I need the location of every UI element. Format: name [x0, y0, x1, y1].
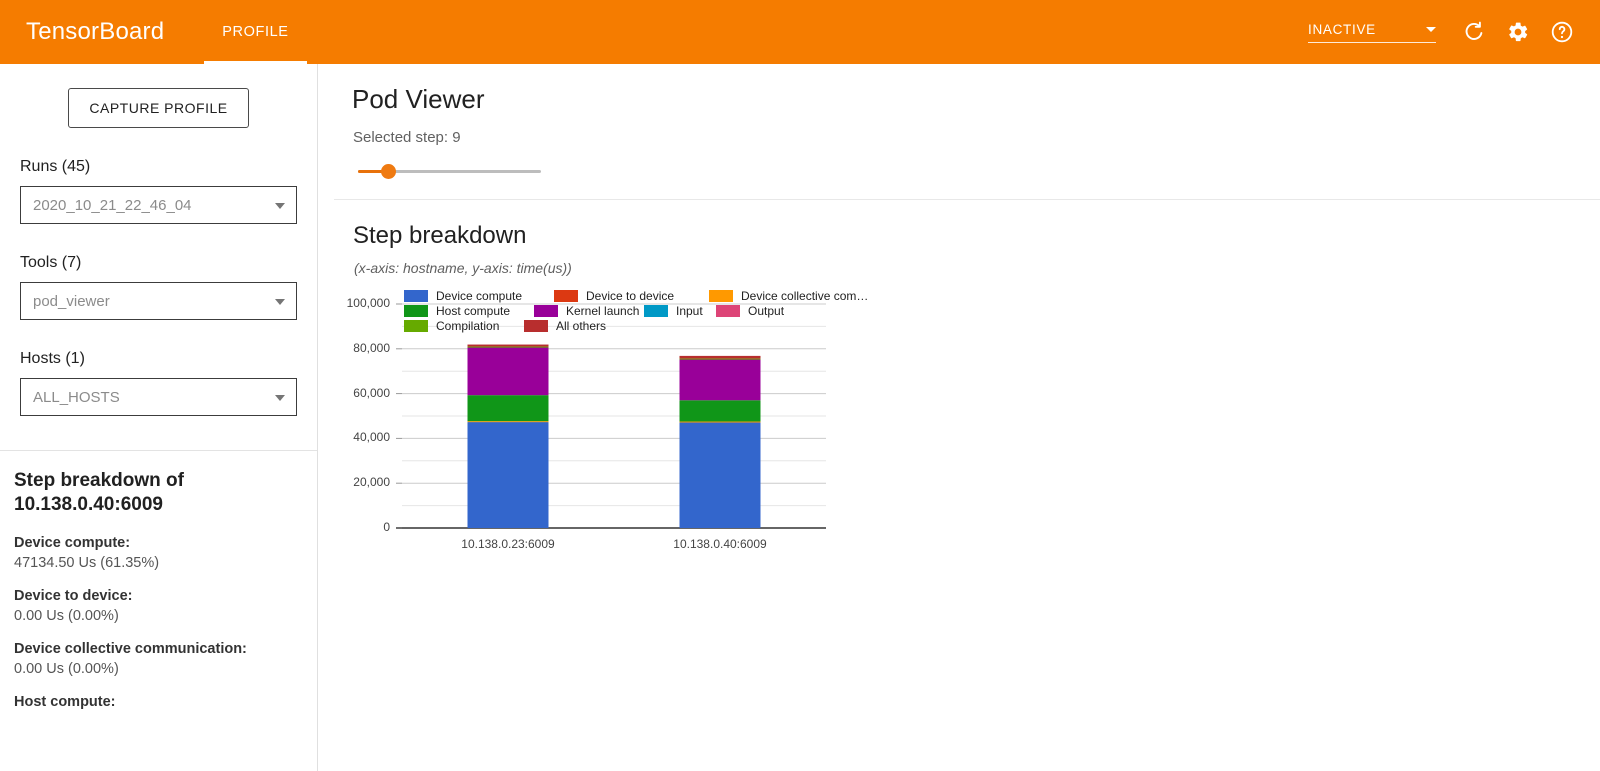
legend-swatch	[554, 290, 578, 302]
left-sidebar: CAPTURE PROFILE Runs (45) 2020_10_21_22_…	[0, 64, 318, 771]
selected-step-label: Selected step: 9	[334, 115, 1600, 146]
bar-segment	[468, 347, 549, 348]
legend-label: Compilation	[436, 319, 499, 333]
y-axis-tick-label: 60,000	[334, 386, 390, 400]
step-breakdown-chart: Device compute Device to device Device c…	[334, 288, 1234, 556]
legend-label: Input	[676, 304, 703, 318]
chart-title: Step breakdown	[334, 200, 1600, 250]
help-button[interactable]	[1542, 12, 1582, 52]
tools-field: Tools (7) pod_viewer	[0, 254, 317, 320]
reload-icon	[1462, 20, 1486, 44]
bar-segment	[680, 359, 761, 360]
breakdown-item: Device to device: 0.00 Us (0.00%)	[0, 588, 317, 624]
y-axis-tick-label: 40,000	[334, 430, 390, 444]
app-brand: TensorBoard	[26, 18, 164, 46]
chart-subtitle: (x-axis: hostname, y-axis: time(us))	[334, 250, 1600, 276]
legend-row: Host compute Kernel launch Input Output	[404, 303, 924, 318]
bar-segment	[680, 400, 761, 421]
runs-select[interactable]: 2020_10_21_22_46_04	[20, 186, 297, 224]
runs-label: Runs (45)	[20, 158, 297, 176]
legend-item[interactable]: Device collective com…	[709, 289, 868, 303]
legend-item[interactable]: Device compute	[404, 289, 554, 303]
legend-item[interactable]: Input	[644, 304, 716, 318]
reload-button[interactable]	[1454, 12, 1494, 52]
hosts-label: Hosts (1)	[20, 350, 297, 368]
capture-profile-row: CAPTURE PROFILE	[0, 64, 317, 128]
bar-segment	[468, 421, 549, 422]
runs-select-value: 2020_10_21_22_46_04	[33, 197, 192, 214]
header-actions: INACTIVE	[1308, 12, 1582, 52]
breakdown-item-key: Device compute:	[14, 535, 297, 551]
capture-profile-button[interactable]: CAPTURE PROFILE	[68, 88, 248, 128]
legend-swatch	[404, 305, 428, 317]
step-slider[interactable]	[358, 164, 541, 178]
legend-item[interactable]: Output	[716, 304, 784, 318]
legend-row: Compilation All others	[404, 318, 924, 333]
y-axis-tick-label: 0	[334, 520, 390, 534]
legend-item[interactable]: Compilation	[404, 319, 524, 333]
legend-label: Host compute	[436, 304, 510, 318]
x-axis-tick-label: 10.138.0.23:6009	[428, 537, 588, 551]
bar-segment	[468, 345, 549, 347]
slider-thumb[interactable]	[381, 164, 396, 179]
legend-label: Kernel launch	[566, 304, 639, 318]
breakdown-item: Device collective communication: 0.00 Us…	[0, 641, 317, 677]
tools-label: Tools (7)	[20, 254, 297, 272]
hosts-select[interactable]: ALL_HOSTS	[20, 378, 297, 416]
breakdown-item-key: Device to device:	[14, 588, 297, 604]
runs-field: Runs (45) 2020_10_21_22_46_04	[0, 158, 317, 224]
legend-item[interactable]: Device to device	[554, 289, 709, 303]
header-tabs: PROFILE	[204, 0, 306, 64]
breakdown-item-value: 0.00 Us (0.00%)	[14, 661, 297, 677]
legend-item[interactable]: All others	[524, 319, 606, 333]
legend-swatch	[404, 320, 428, 332]
breakdown-item-key: Host compute:	[14, 694, 297, 710]
y-axis-tick-label: 80,000	[334, 341, 390, 355]
y-axis-tick-label: 100,000	[334, 296, 390, 310]
chart-legend: Device compute Device to device Device c…	[404, 288, 924, 333]
legend-swatch	[716, 305, 740, 317]
tab-profile[interactable]: PROFILE	[204, 0, 306, 64]
breakdown-item: Device compute: 47134.50 Us (61.35%)	[0, 535, 317, 571]
main-panel: Pod Viewer Selected step: 9 Step breakdo…	[334, 64, 1600, 771]
breakdown-item-key: Device collective communication:	[14, 641, 297, 657]
settings-button[interactable]	[1498, 12, 1538, 52]
hosts-select-value: ALL_HOSTS	[33, 389, 120, 406]
legend-label: All others	[556, 319, 606, 333]
chevron-down-icon	[275, 395, 285, 401]
legend-swatch	[644, 305, 668, 317]
bar-segment	[468, 422, 549, 528]
breakdown-item-value: 0.00 Us (0.00%)	[14, 608, 297, 624]
hosts-field: Hosts (1) ALL_HOSTS	[0, 350, 317, 416]
bar-segment	[468, 347, 549, 395]
legend-label: Device compute	[436, 289, 522, 303]
run-status-value: INACTIVE	[1308, 22, 1376, 37]
tab-profile-label: PROFILE	[222, 24, 288, 40]
chevron-down-icon	[275, 203, 285, 209]
chevron-down-icon	[275, 299, 285, 305]
legend-swatch	[524, 320, 548, 332]
bar-segment	[680, 359, 761, 400]
breakdown-title: Step breakdown of 10.138.0.40:6009	[0, 451, 317, 518]
bar-segment	[680, 422, 761, 423]
chevron-down-icon	[1426, 27, 1436, 32]
breakdown-item-value: 47134.50 Us (61.35%)	[14, 555, 297, 571]
legend-label: Output	[748, 304, 784, 318]
x-axis-tick-label: 10.138.0.40:6009	[640, 537, 800, 551]
help-circle-icon	[1550, 20, 1574, 44]
legend-row: Device compute Device to device Device c…	[404, 288, 924, 303]
tools-select[interactable]: pod_viewer	[20, 282, 297, 320]
legend-label: Device collective com…	[741, 289, 868, 303]
gear-icon	[1506, 20, 1530, 44]
breakdown-item: Host compute:	[0, 694, 317, 710]
legend-swatch	[709, 290, 733, 302]
y-axis-tick-label: 20,000	[334, 475, 390, 489]
breakdown-list: Device compute: 47134.50 Us (61.35%) Dev…	[0, 535, 317, 710]
run-status-dropdown[interactable]: INACTIVE	[1308, 22, 1436, 43]
legend-item[interactable]: Host compute	[404, 304, 534, 318]
app-header: TensorBoard PROFILE INACTIVE	[0, 0, 1600, 64]
legend-label: Device to device	[586, 289, 674, 303]
page-title: Pod Viewer	[334, 64, 1600, 115]
bar-segment	[680, 422, 761, 528]
legend-swatch	[404, 290, 428, 302]
legend-item[interactable]: Kernel launch	[534, 304, 644, 318]
bar-segment	[680, 356, 761, 359]
legend-swatch	[534, 305, 558, 317]
bar-segment	[468, 395, 549, 421]
step-slider-row	[334, 146, 1600, 178]
tools-select-value: pod_viewer	[33, 293, 110, 310]
